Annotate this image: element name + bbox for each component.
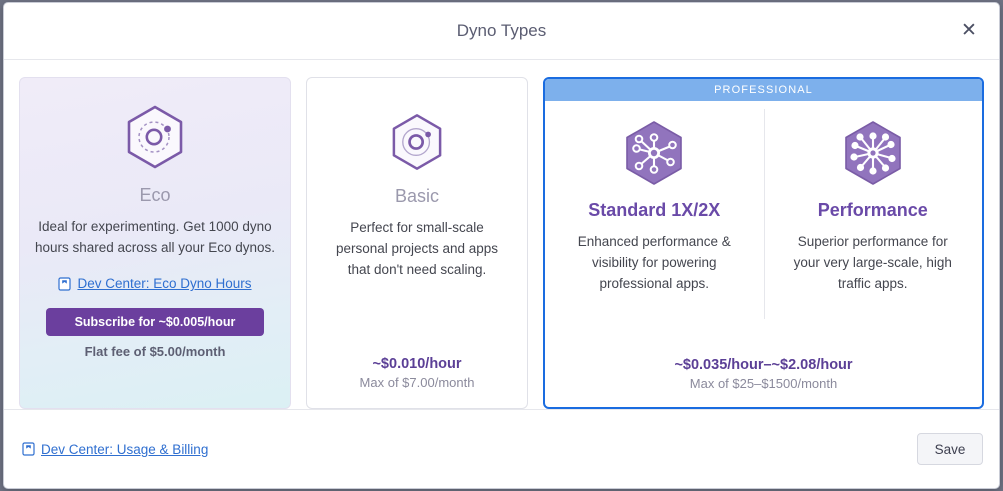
plan-description-basic: Perfect for small-scale personal project… (327, 217, 507, 280)
professional-price: ~$0.035/hour–~$2.08/hour (545, 357, 982, 373)
basic-price: ~$0.010/hour (360, 356, 475, 372)
usage-billing-dev-center-link[interactable]: Dev Center: Usage & Billing (22, 442, 208, 457)
page-title: Dyno Types (457, 21, 546, 41)
professional-price-block: ~$0.035/hour–~$2.08/hour Max of $25–$150… (545, 357, 982, 391)
eco-dyno-hexagon-icon (119, 101, 191, 173)
doc-link-icon (58, 277, 71, 291)
plan-description-performance: Superior performance for your very large… (785, 231, 960, 294)
eco-flat-fee: Flat fee of $5.00/month (85, 344, 226, 359)
plans-container: Eco Ideal for experimenting. Get 1000 dy… (4, 60, 999, 409)
plan-description-standard: Enhanced performance & visibility for po… (567, 231, 742, 294)
column-divider (764, 109, 765, 319)
doc-link-icon (22, 442, 35, 456)
professional-columns: Standard 1X/2X Enhanced performance & vi… (545, 101, 982, 357)
modal-footer: Dev Center: Usage & Billing Save (4, 409, 999, 488)
eco-dev-center-link-label: Dev Center: Eco Dyno Hours (77, 276, 251, 291)
dyno-types-modal: Dyno Types ✕ Eco Ideal for experimenting… (3, 2, 1000, 489)
basic-price-max: Max of $7.00/month (360, 375, 475, 390)
save-button[interactable]: Save (917, 433, 983, 465)
professional-price-max: Max of $25–$1500/month (545, 376, 982, 391)
performance-dyno-hexagon-icon (837, 117, 909, 189)
subscribe-eco-button[interactable]: Subscribe for ~$0.005/hour (46, 308, 264, 336)
plan-card-basic[interactable]: Basic Perfect for small-scale personal p… (306, 77, 528, 409)
plan-column-standard[interactable]: Standard 1X/2X Enhanced performance & vi… (545, 117, 764, 357)
standard-dyno-hexagon-icon (618, 117, 690, 189)
close-icon[interactable]: ✕ (953, 14, 985, 46)
plan-card-professional[interactable]: PROFESSIONAL (543, 77, 984, 409)
basic-price-block: ~$0.010/hour Max of $7.00/month (360, 356, 475, 390)
plan-name-performance: Performance (818, 200, 928, 221)
plan-name-basic: Basic (395, 186, 439, 207)
plan-card-eco[interactable]: Eco Ideal for experimenting. Get 1000 dy… (19, 77, 291, 409)
professional-banner: PROFESSIONAL (545, 79, 982, 101)
plan-description-eco: Ideal for experimenting. Get 1000 dyno h… (32, 216, 278, 258)
modal-header: Dyno Types ✕ (4, 3, 999, 60)
plan-name-eco: Eco (139, 185, 170, 206)
plan-column-performance[interactable]: Performance Superior performance for you… (764, 117, 983, 357)
eco-dev-center-link[interactable]: Dev Center: Eco Dyno Hours (58, 276, 251, 291)
usage-billing-link-label: Dev Center: Usage & Billing (41, 442, 208, 457)
plan-name-standard: Standard 1X/2X (588, 200, 720, 221)
basic-dyno-hexagon-icon (385, 110, 449, 174)
